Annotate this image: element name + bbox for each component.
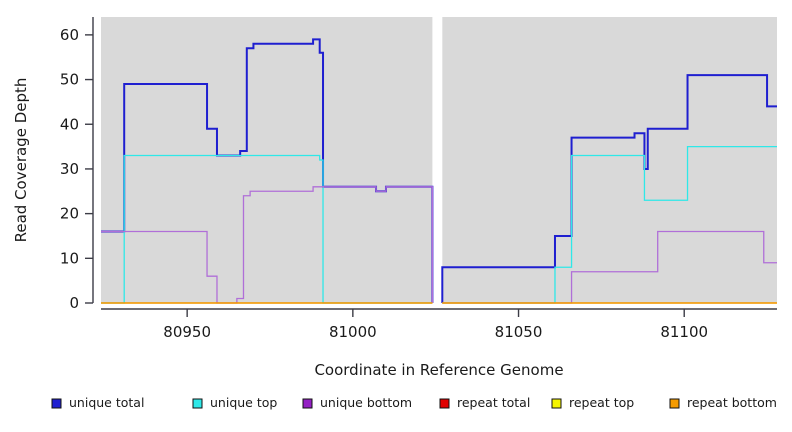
- legend-label: repeat bottom: [687, 395, 777, 410]
- plot-panels: [101, 17, 777, 303]
- y-axis-tick-label: 10: [60, 249, 79, 267]
- legend-swatch-icon: [552, 399, 561, 408]
- y-axis-tick-label: 0: [69, 294, 79, 312]
- legend-item-unique-top[interactable]: unique top: [193, 395, 277, 410]
- legend-label: unique bottom: [320, 395, 412, 410]
- coverage-depth-plot: 010203040506080950810008105081100 Read C…: [0, 0, 792, 432]
- x-axis-tick-label: 80950: [163, 323, 211, 341]
- plot-panel-right: [442, 17, 777, 303]
- y-axis-tick-label: 20: [60, 205, 79, 223]
- legend-item-repeat-top[interactable]: repeat top: [552, 395, 634, 410]
- chart-legend: unique totalunique topunique bottomrepea…: [52, 395, 777, 410]
- y-axis-tick-label: 40: [60, 115, 79, 133]
- legend-label: unique top: [210, 395, 277, 410]
- x-axis-tick-label: 81000: [329, 323, 377, 341]
- legend-item-repeat-total[interactable]: repeat total: [440, 395, 530, 410]
- x-axis-tick-label: 81100: [660, 323, 708, 341]
- legend-item-unique-bottom[interactable]: unique bottom: [303, 395, 412, 410]
- y-axis-tick-label: 60: [60, 26, 79, 44]
- x-axis-title: Coordinate in Reference Genome: [314, 361, 563, 379]
- y-axis-tick-label: 50: [60, 71, 79, 89]
- plot-panel-left: [101, 17, 432, 303]
- legend-item-unique-total[interactable]: unique total: [52, 395, 144, 410]
- y-axis-tick-label: 30: [60, 160, 79, 178]
- legend-swatch-icon: [52, 399, 61, 408]
- legend-label: repeat top: [569, 395, 634, 410]
- legend-label: repeat total: [457, 395, 530, 410]
- chart-figure: 010203040506080950810008105081100 Read C…: [0, 0, 792, 432]
- legend-swatch-icon: [670, 399, 679, 408]
- legend-label: unique total: [69, 395, 144, 410]
- x-axis-tick-label: 81050: [495, 323, 543, 341]
- legend-swatch-icon: [193, 399, 202, 408]
- legend-item-repeat-bottom[interactable]: repeat bottom: [670, 395, 777, 410]
- legend-swatch-icon: [440, 399, 449, 408]
- y-axis-title: Read Coverage Depth: [12, 78, 30, 243]
- legend-swatch-icon: [303, 399, 312, 408]
